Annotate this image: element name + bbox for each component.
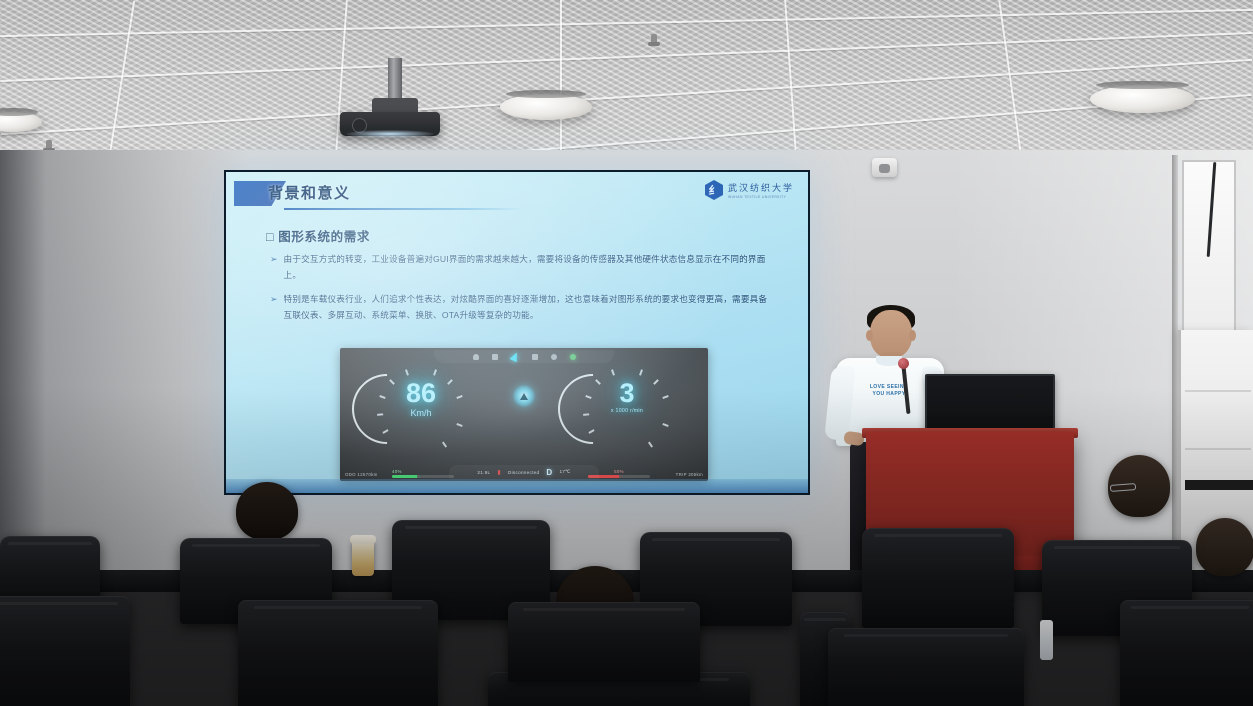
speed-value: 86: [346, 380, 496, 407]
cluster-status-icon-bar: [434, 350, 614, 363]
gear-indicator: D: [546, 468, 552, 477]
slide-section-heading: □ 图形系统的需求: [266, 226, 370, 245]
phone-icon: [532, 354, 538, 360]
chair: [0, 596, 130, 706]
fuel-bar: [392, 475, 454, 478]
audience-head: [236, 482, 298, 540]
presenter-head: [870, 310, 912, 358]
rpm-value: 3: [552, 380, 702, 407]
audience-head: [1196, 518, 1253, 576]
connection-status-text: Disconnected: [508, 470, 539, 475]
sprinkler-head: [46, 140, 52, 150]
fuel-gauge: 40%: [392, 469, 454, 478]
presenter-ear: [909, 330, 916, 341]
sprinkler-head: [651, 34, 657, 44]
slide-bullet-text: 特别是车载仪表行业，人们追求个性表达，对炫酷界面的喜好逐渐增加，这也意味着对图形…: [284, 292, 770, 323]
range-text: 21.9L: [477, 470, 490, 475]
speed-unit: Km/h: [346, 408, 496, 418]
presentation-slide: 背景和意义 纟 武汉纺织大学 WUHAN TEXTILE UNIVERSITY …: [226, 172, 808, 493]
arrow-marker-icon: ➢: [270, 292, 278, 323]
thermos-cup: [352, 540, 374, 576]
slide-bullet-item: ➢ 由于交互方式的转变，工业设备普遍对GUI界面的需求越来越大，需要将设备的传感…: [270, 252, 770, 283]
university-logo-cn: 武汉纺织大学: [728, 181, 794, 194]
lecture-hall-scene: 背景和意义 纟 武汉纺织大学 WUHAN TEXTILE UNIVERSITY …: [0, 0, 1253, 706]
slide-title: 背景和意义: [268, 182, 351, 203]
rpm-unit: x 1000 r/min: [552, 408, 702, 414]
slide-section-heading-text: 图形系统的需求: [278, 230, 370, 244]
arrow-marker-icon: ➢: [270, 252, 278, 283]
chair: [828, 628, 1024, 706]
wall-shadow-corner: [0, 150, 46, 570]
tachometer-gauge: 3 x 1000 r/min: [552, 366, 702, 454]
slide-bullet-item: ➢ 特别是车载仪表行业，人们追求个性表达，对炫酷界面的喜好逐渐增加，这也意味着对…: [270, 292, 770, 323]
bulb-icon: [473, 354, 479, 360]
door-frame: [1182, 160, 1236, 332]
green-dot-icon: [570, 354, 576, 360]
microphone-icon: [898, 358, 909, 369]
cluster-bottom-bar: ODO 12570km TRIP 205km 40% 50% 21.9L ▮ D…: [340, 461, 708, 481]
slide-title-underline: [284, 208, 524, 210]
water-bottle: [1040, 620, 1053, 660]
ceiling-grid-line: [560, 0, 562, 168]
slide-bottom-band: [226, 479, 808, 493]
speedometer-gauge: 86 Km/h: [346, 366, 496, 454]
security-camera-icon: [872, 158, 897, 177]
odometer-text: ODO 12570km: [345, 472, 378, 477]
ceiling-light-fixture: [500, 94, 592, 120]
instrument-cluster-image: 86 Km/h: [340, 348, 708, 481]
university-logo-en: WUHAN TEXTILE UNIVERSITY: [728, 195, 794, 199]
chair: [508, 602, 700, 682]
rpm-readout: 3 x 1000 r/min: [552, 380, 702, 414]
university-logo: 纟 武汉纺织大学 WUHAN TEXTILE UNIVERSITY: [705, 180, 794, 200]
fuel-label: 40%: [392, 469, 454, 474]
chair: [238, 600, 438, 706]
ceiling-light-fixture: [1090, 85, 1195, 113]
slide-bullet-text: 由于交互方式的转变，工业设备普遍对GUI界面的需求越来越大，需要将设备的传感器及…: [284, 252, 770, 283]
battery-icon: [492, 354, 498, 360]
navigation-icon: [509, 351, 520, 363]
outside-temp-text: 17℃: [559, 469, 570, 475]
dot-icon: [551, 354, 557, 360]
warning-icon: ▮: [497, 469, 501, 476]
hanging-cable: [1207, 162, 1217, 257]
presenter-ear: [866, 330, 873, 341]
slide-bullet-list: ➢ 由于交互方式的转变，工业设备普遍对GUI界面的需求越来越大，需要将设备的传感…: [270, 252, 770, 332]
cluster-center-status: 21.9L ▮ Disconnected D 17℃: [449, 465, 599, 479]
ceiling: [0, 0, 1253, 168]
university-logo-mark-icon: 纟: [705, 180, 723, 200]
coolant-temp-label: 50%: [614, 469, 624, 474]
cabinet-vent: [1185, 480, 1253, 490]
projector-light-glow: [346, 130, 434, 138]
slide-bullet-marker: □: [266, 230, 274, 244]
trip-text: TRIP 205km: [676, 472, 703, 477]
chair: [862, 528, 1014, 628]
center-status-icon: [513, 385, 535, 407]
chair: [1120, 600, 1253, 706]
speed-readout: 86 Km/h: [346, 380, 496, 418]
